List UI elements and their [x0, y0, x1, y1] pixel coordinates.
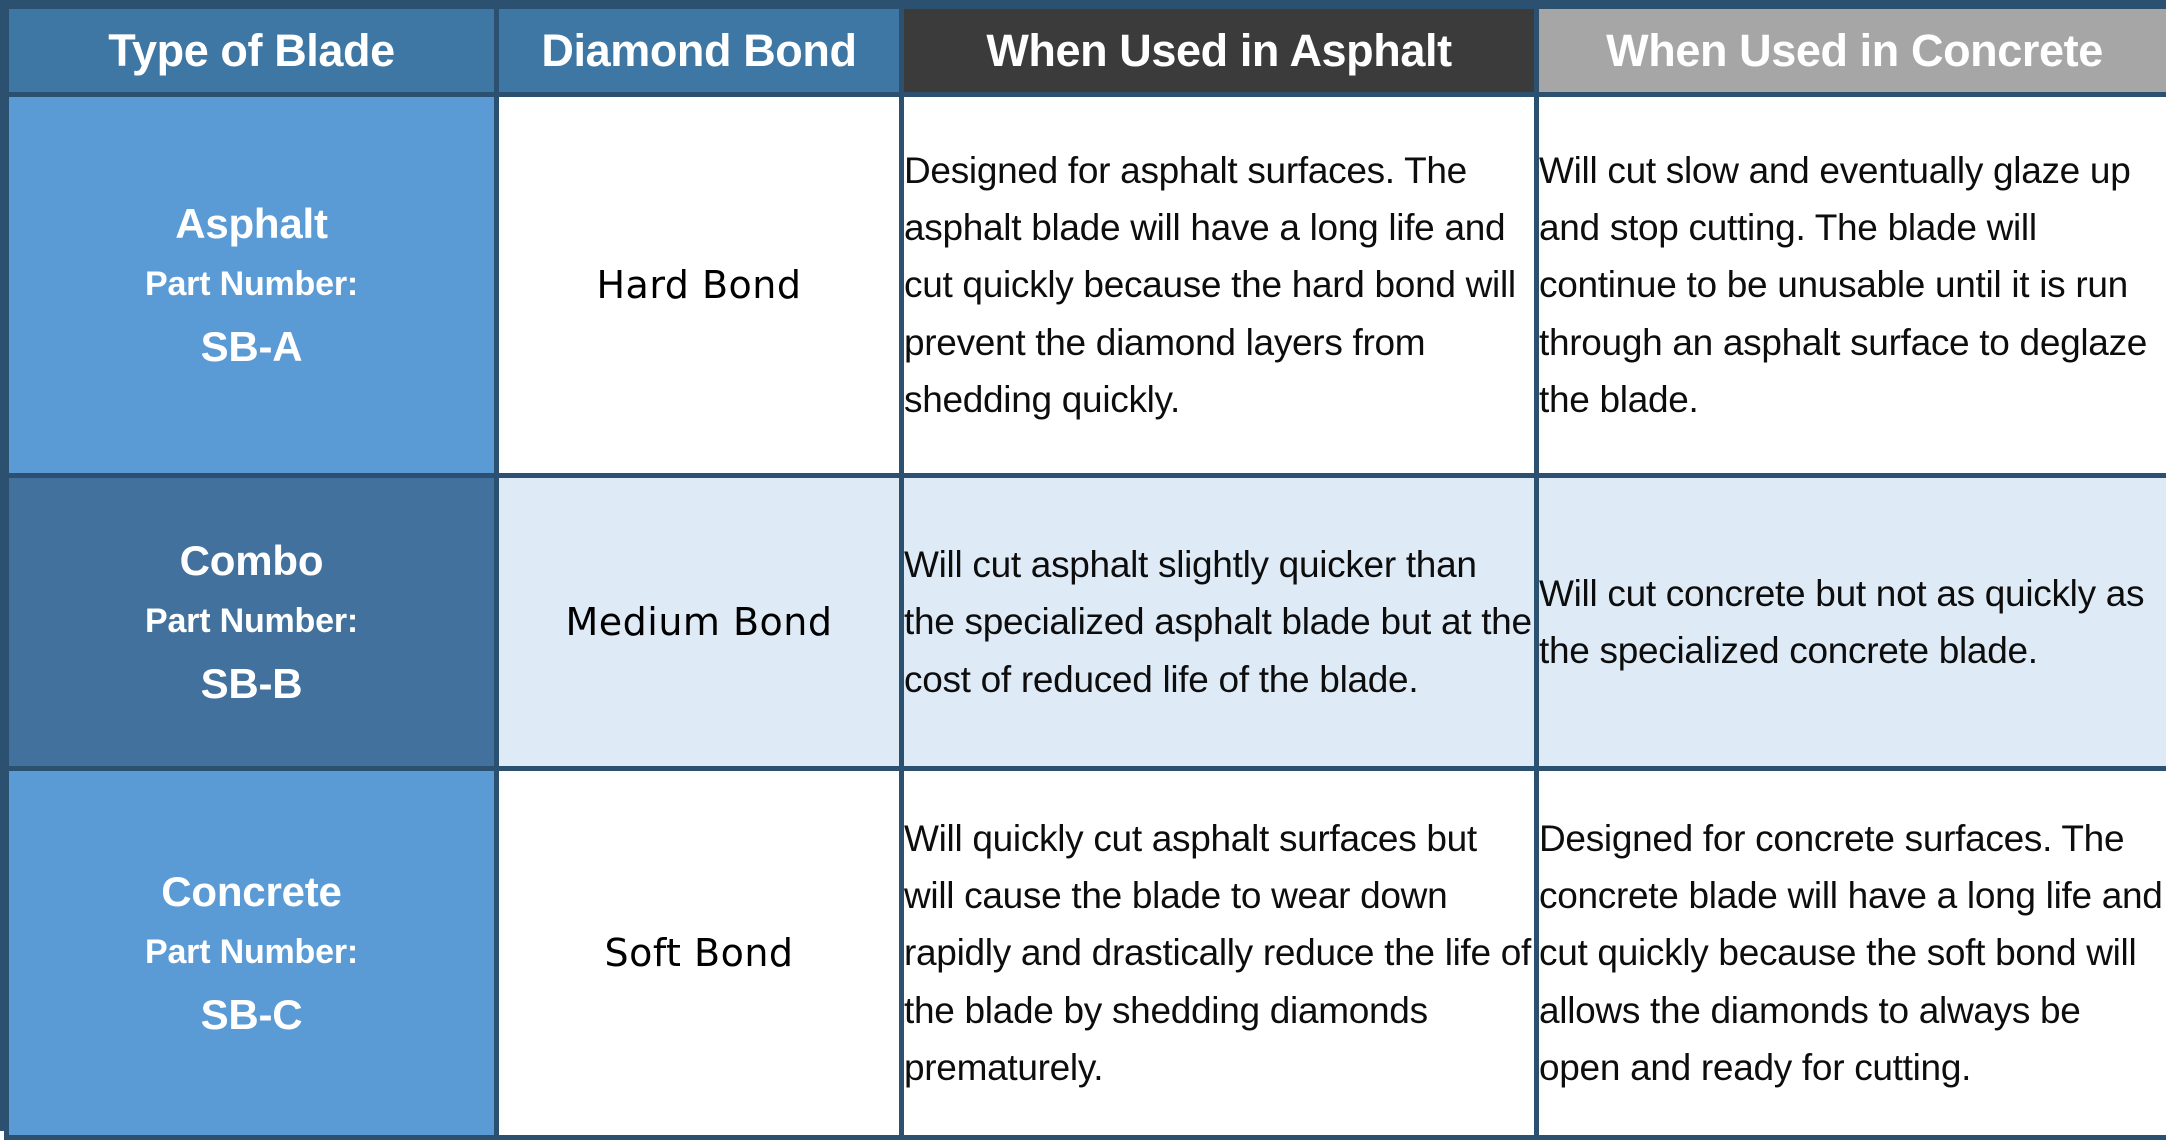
concrete-usage-cell-combo-blade: Will cut concrete but not as quickly as … [1537, 476, 2166, 769]
blade-type-cell-concrete: Concrete Part Number: SB-C [7, 769, 497, 1138]
table-body: Asphalt Part Number: SB-A Hard Bond Desi… [7, 95, 2166, 1138]
blade-type-cell-combo: Combo Part Number: SB-B [7, 476, 497, 769]
blade-comparison-table: Type of Blade Diamond Bond When Used in … [4, 4, 2166, 1140]
blade-comparison-table-container: Type of Blade Diamond Bond When Used in … [0, 0, 2166, 1131]
table-row: Concrete Part Number: SB-C Soft Bond Wil… [7, 769, 2166, 1138]
table-header: Type of Blade Diamond Bond When Used in … [7, 7, 2166, 95]
blade-name-label: Asphalt [9, 192, 494, 255]
blade-name-label: Combo [9, 529, 494, 592]
concrete-usage-cell-asphalt-blade: Will cut slow and eventually glaze up an… [1537, 95, 2166, 476]
column-header-diamond-bond: Diamond Bond [497, 7, 902, 95]
part-number-value: SB-B [9, 652, 494, 715]
diamond-bond-cell-asphalt: Hard Bond [497, 95, 902, 476]
table-header-row: Type of Blade Diamond Bond When Used in … [7, 7, 2166, 95]
part-number-label: Part Number: [9, 255, 494, 315]
part-number-value: SB-A [9, 315, 494, 378]
blade-name-label: Concrete [9, 860, 494, 923]
part-number-label: Part Number: [9, 923, 494, 983]
column-header-when-used-in-concrete: When Used in Concrete [1537, 7, 2166, 95]
asphalt-usage-cell-concrete-blade: Will quickly cut asphalt surfaces but wi… [902, 769, 1537, 1138]
table-row: Combo Part Number: SB-B Medium Bond Will… [7, 476, 2166, 769]
table-row: Asphalt Part Number: SB-A Hard Bond Desi… [7, 95, 2166, 476]
blade-type-cell-asphalt: Asphalt Part Number: SB-A [7, 95, 497, 476]
diamond-bond-cell-combo: Medium Bond [497, 476, 902, 769]
asphalt-usage-cell-asphalt-blade: Designed for asphalt surfaces. The aspha… [902, 95, 1537, 476]
diamond-bond-cell-concrete: Soft Bond [497, 769, 902, 1138]
asphalt-usage-cell-combo-blade: Will cut asphalt slightly quicker than t… [902, 476, 1537, 769]
concrete-usage-cell-concrete-blade: Designed for concrete surfaces. The conc… [1537, 769, 2166, 1138]
part-number-label: Part Number: [9, 592, 494, 652]
column-header-when-used-in-asphalt: When Used in Asphalt [902, 7, 1537, 95]
part-number-value: SB-C [9, 983, 494, 1046]
column-header-type-of-blade: Type of Blade [7, 7, 497, 95]
